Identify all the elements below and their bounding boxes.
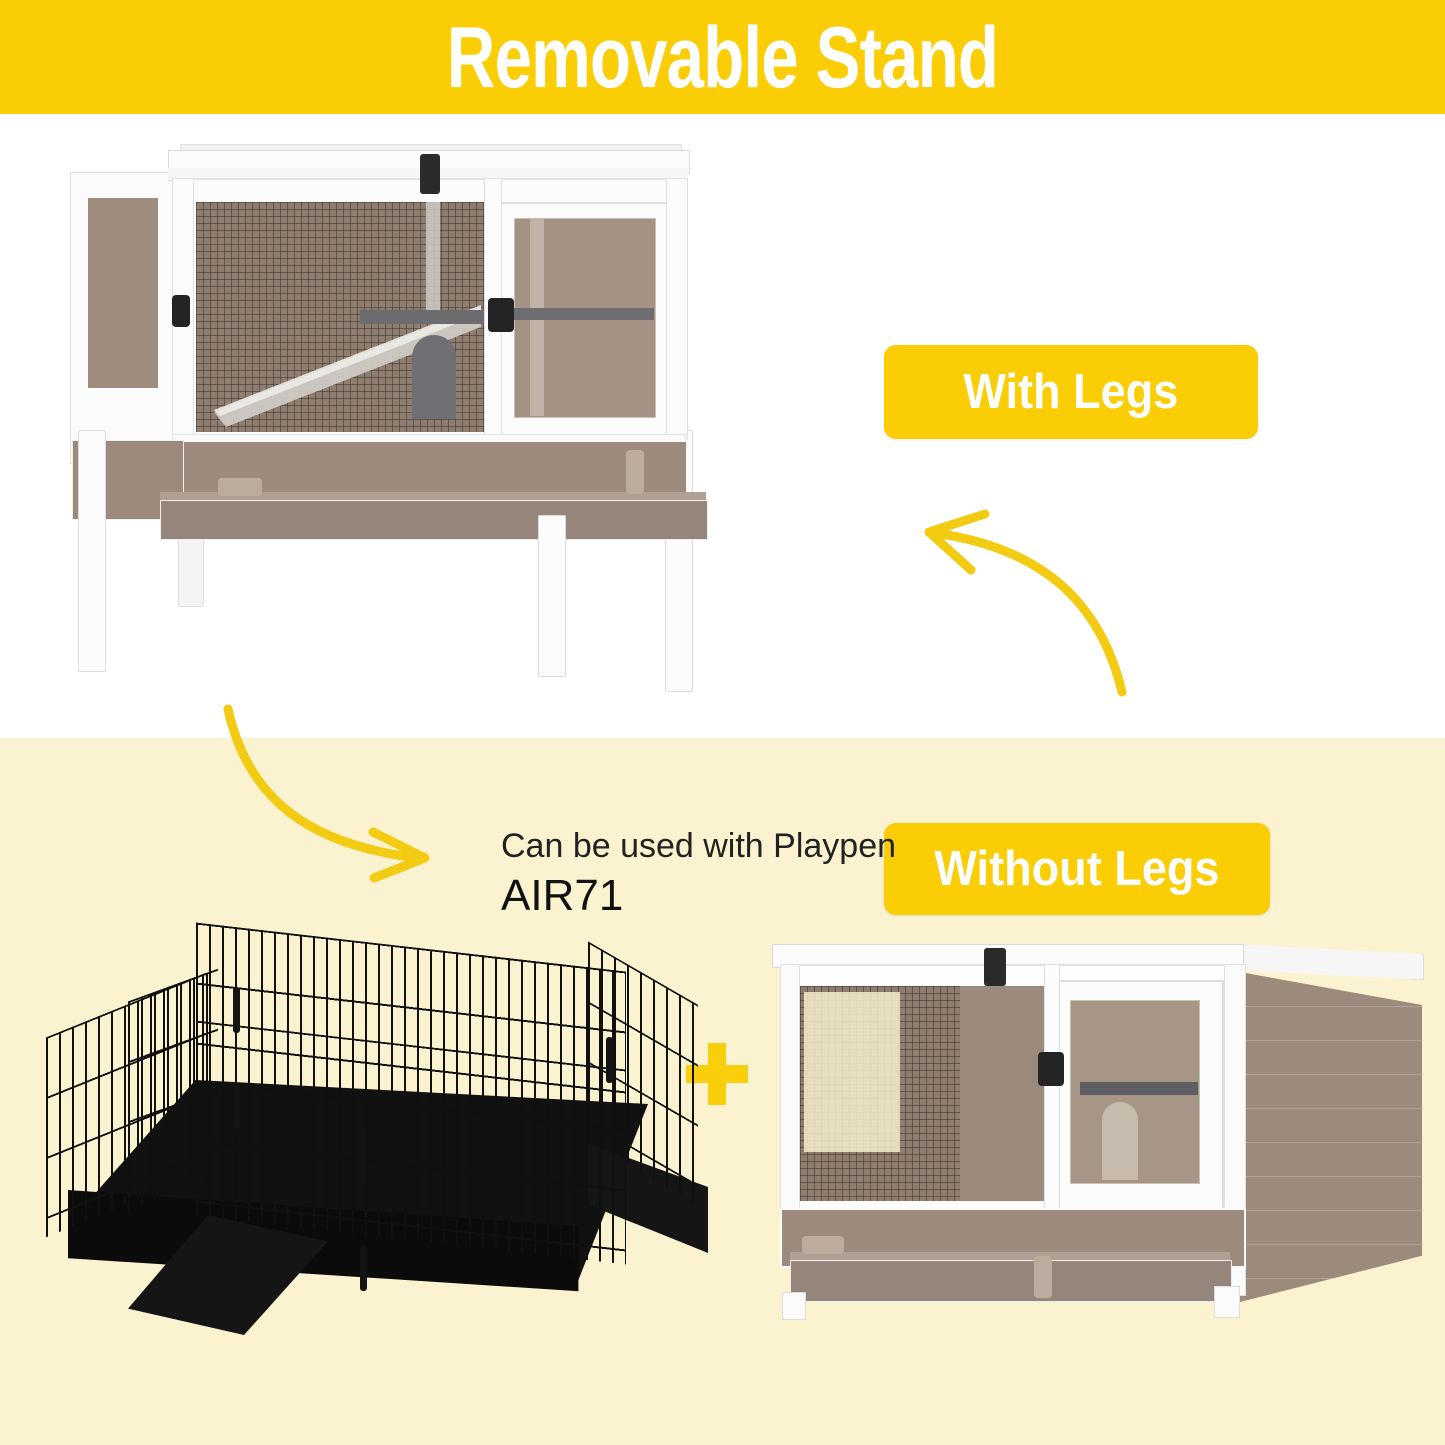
hutch-roof-latch-icon <box>420 154 440 194</box>
hutch-nolegs-pullout-tray <box>790 1260 1232 1302</box>
product-image-hutch-without-legs <box>762 930 1422 1340</box>
product-image-hutch-with-legs <box>60 140 760 740</box>
playpen-caption-model: AIR71 <box>501 868 871 924</box>
hutch-leg-front-center <box>538 515 566 677</box>
page-title: Removable Stand <box>159 6 1286 110</box>
hutch-nolegs-tray-knob-left <box>802 1236 844 1254</box>
hutch-pullout-tray <box>160 500 708 540</box>
hutch-side-hinge-icon <box>172 295 190 327</box>
badge-with-legs-label: With Legs <box>964 364 1179 420</box>
hutch-door-latch-icon <box>488 298 514 332</box>
hutch-nolegs-tray-knob-right <box>1034 1256 1052 1298</box>
hutch-nolegs-door-latch-icon <box>1038 1052 1064 1086</box>
playpen-clip-icon <box>233 987 240 1033</box>
playpen-clip-icon <box>360 1245 367 1291</box>
hutch-nolegs-roof-side <box>1232 944 1424 980</box>
hutch-nolegs-side-planks <box>1240 972 1422 1302</box>
hutch-nolegs-interior-wall <box>960 986 1048 1201</box>
hutch-leg-front-left <box>78 430 106 672</box>
badge-without-legs: Without Legs <box>884 823 1270 915</box>
hutch-nolegs-foot-right <box>1214 1286 1240 1318</box>
hutch-burrow-arch <box>412 335 456 419</box>
hutch-side-window-left <box>88 198 158 388</box>
playpen-caption: Can be used with Playpen AIR71 <box>501 824 871 924</box>
playpen-clip-icon <box>233 1083 240 1129</box>
hutch-tray-knob-right <box>626 450 644 494</box>
hutch-nolegs-burrow-arch <box>1102 1102 1138 1180</box>
hutch-door-visible-shelf <box>514 308 654 320</box>
hutch-nolegs-interior-shelf <box>1080 1082 1198 1095</box>
header-banner: Removable Stand <box>0 0 1445 114</box>
hutch-tray-knob-left <box>218 478 262 496</box>
infographic-page: Removable Stand <box>0 0 1445 1445</box>
hutch-nolegs-foot-left <box>782 1292 806 1320</box>
badge-with-legs: With Legs <box>884 345 1258 439</box>
playpen-clip-icon <box>606 1037 613 1083</box>
playpen-clip-icon <box>360 1133 367 1179</box>
badge-without-legs-label: Without Legs <box>934 841 1219 897</box>
plus-icon-vertical-bar <box>708 1043 726 1105</box>
product-image-playpen <box>28 925 688 1345</box>
playpen-caption-line1: Can be used with Playpen <box>501 824 871 868</box>
hutch-nolegs-roof-latch-icon <box>984 948 1006 986</box>
hutch-interior-shelf <box>360 310 488 324</box>
hutch-nolegs-mesh-backlight <box>804 992 900 1152</box>
